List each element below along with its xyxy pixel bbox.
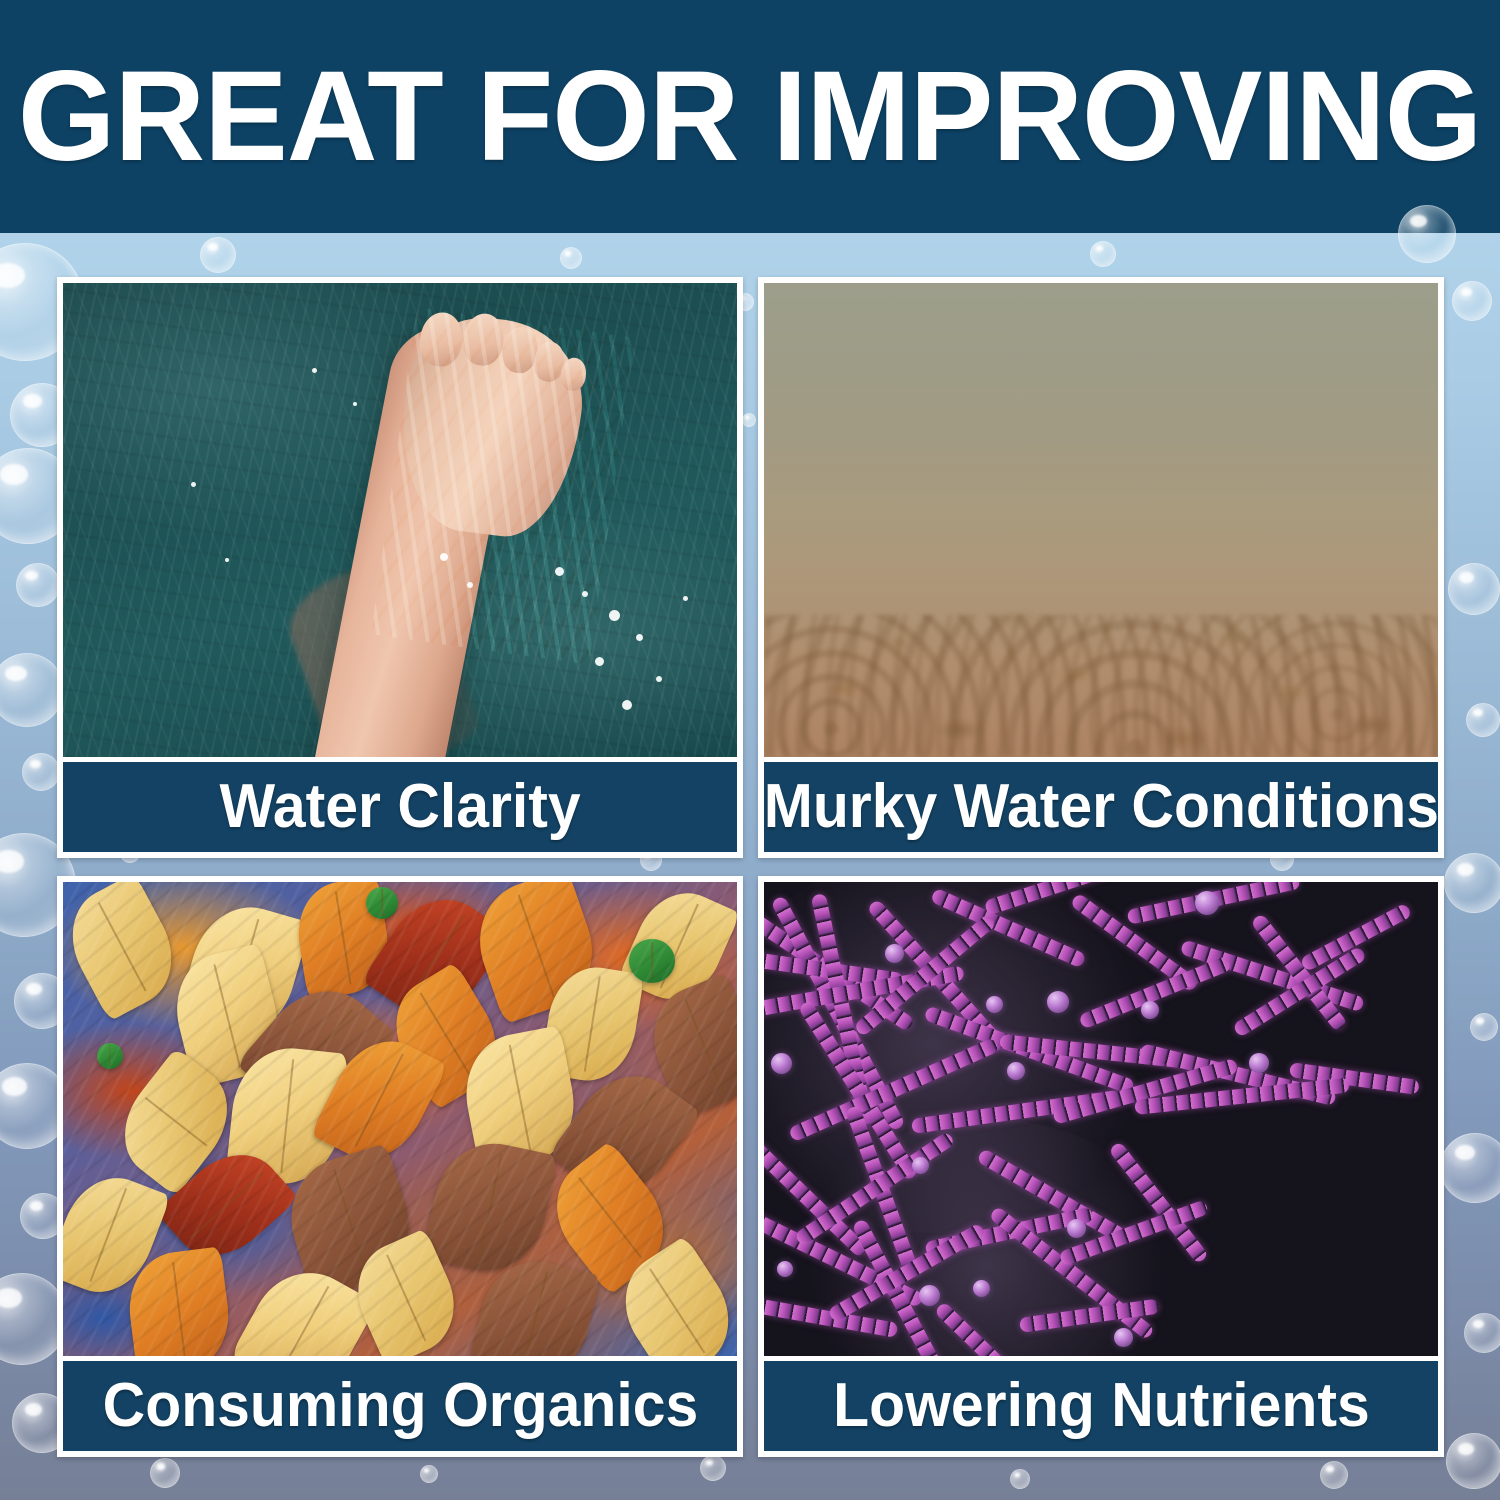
bubble-icon [1440, 1133, 1500, 1203]
splash-droplet [636, 634, 643, 641]
card-caption-bar: Lowering Nutrients [764, 1361, 1438, 1451]
bubble-icon [1464, 1313, 1500, 1353]
murky-water-photo [764, 283, 1438, 757]
feature-card-murky-water[interactable]: Murky Water Conditions [758, 277, 1444, 858]
algae-cell [1067, 1219, 1086, 1238]
algae-cell [885, 944, 904, 963]
card-caption-bar: Consuming Organics [63, 1361, 737, 1451]
bubble-icon [0, 653, 64, 727]
turbidity-haze-overlay [764, 283, 1438, 757]
card-caption-bar: Murky Water Conditions [764, 762, 1438, 852]
feature-card-lowering-nutrients[interactable]: Lowering Nutrients [758, 876, 1444, 1457]
bubble-icon [16, 563, 60, 607]
bubble-icon [1466, 703, 1500, 737]
splash-droplet [225, 558, 229, 562]
algae-cell [771, 1053, 792, 1074]
algae-cell [919, 1285, 940, 1306]
bubble-icon [150, 1458, 180, 1488]
algae-cell [1249, 1053, 1269, 1073]
algae-cell [1195, 891, 1219, 915]
splash-droplet [683, 596, 688, 601]
water-caustics-overlay [371, 307, 635, 664]
bubble-icon [560, 247, 582, 269]
card-caption-label: Murky Water Conditions [763, 776, 1438, 838]
bubble-icon [1090, 241, 1116, 267]
cyanobacteria-micrograph [764, 882, 1438, 1356]
product-infographic-poster: GREAT FOR IMPROVING [0, 0, 1500, 1500]
algae-cell [1141, 1001, 1159, 1019]
bubble-icon [1010, 1469, 1030, 1489]
card-caption-bar: Water Clarity [63, 762, 737, 852]
feature-card-water-clarity[interactable]: Water Clarity [57, 277, 743, 858]
bubble-icon [420, 1465, 438, 1483]
bubble-icon [1444, 853, 1500, 913]
bubble-icon [22, 753, 60, 791]
bubble-icon [1320, 1461, 1348, 1489]
bubble-icon [1448, 563, 1500, 615]
header-banner: GREAT FOR IMPROVING [0, 0, 1500, 233]
clear-water-photo [63, 283, 737, 757]
bubble-icon [1452, 281, 1492, 321]
water-sheen-overlay [63, 882, 737, 1356]
bubble-icon [700, 1455, 726, 1481]
card-caption-label: Consuming Organics [102, 1375, 698, 1437]
algae-cell [973, 1280, 990, 1297]
bubble-icon [200, 237, 236, 273]
organics-leaves-photo [63, 882, 737, 1356]
card-caption-label: Lowering Nutrients [833, 1375, 1370, 1437]
bubble-icon [1446, 1433, 1500, 1489]
splash-droplet [353, 402, 357, 406]
bubble-icon [1470, 1013, 1498, 1041]
algae-cell [1114, 1328, 1133, 1347]
splash-droplet [609, 610, 620, 621]
card-caption-label: Water Clarity [219, 776, 580, 838]
feature-card-grid: Water Clarity Murky Water Conditions [57, 277, 1444, 1457]
page-title: GREAT FOR IMPROVING [18, 53, 1481, 181]
algae-cell [1047, 991, 1069, 1013]
algae-cell [1007, 1062, 1025, 1080]
feature-card-consuming-organics[interactable]: Consuming Organics [57, 876, 743, 1457]
